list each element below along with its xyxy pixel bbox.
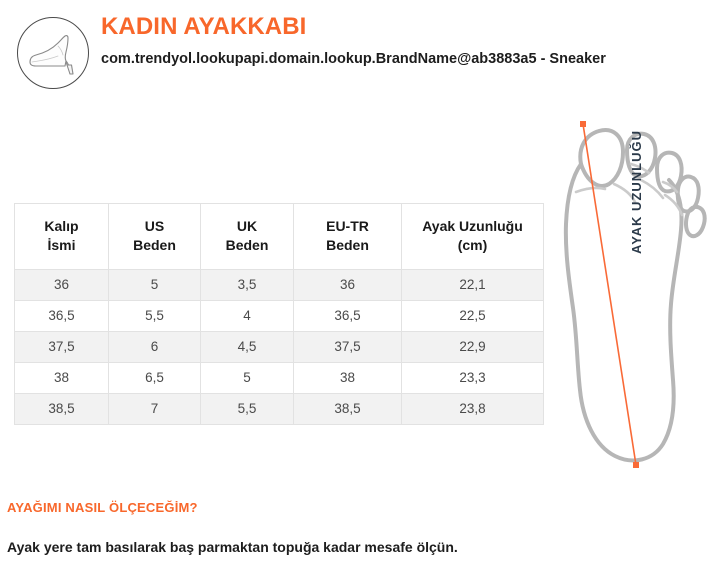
- column-header-line-1: Ayak Uzunluğu: [422, 218, 523, 234]
- cell-kalip-ismi: 36,5: [15, 301, 109, 332]
- column-header-line-1: UK: [237, 218, 257, 234]
- column-header-kalip-ismi: Kalıp İsmi: [15, 204, 109, 270]
- column-header-line-2: Beden: [326, 237, 369, 253]
- header-text-block: KADIN AYAKKABI com.trendyol.lookupapi.do…: [101, 12, 701, 70]
- cell-ayak-uzunlugu: 23,8: [402, 394, 544, 425]
- cell-ayak-uzunlugu: 22,5: [402, 301, 544, 332]
- cell-ayak-uzunlugu: 22,9: [402, 332, 544, 363]
- cell-eu-tr-beden: 36,5: [294, 301, 402, 332]
- cell-uk-beden: 5: [201, 363, 294, 394]
- column-header-uk-beden: UK Beden: [201, 204, 294, 270]
- how-to-measure-text: Ayak yere tam basılarak baş parmaktan to…: [7, 539, 458, 555]
- foot-sole-diagram: [545, 112, 709, 477]
- column-header-line-1: Kalıp: [44, 218, 78, 234]
- column-header-line-2: İsmi: [47, 237, 75, 253]
- table-row: 36,5 5,5 4 36,5 22,5: [15, 301, 544, 332]
- cell-uk-beden: 4,5: [201, 332, 294, 363]
- column-header-eu-tr-beden: EU-TR Beden: [294, 204, 402, 270]
- cell-ayak-uzunlugu: 23,3: [402, 363, 544, 394]
- column-header-line-2: (cm): [458, 237, 488, 253]
- size-table-container: Kalıp İsmi US Beden UK Beden EU-TR Beden…: [14, 203, 543, 425]
- column-header-us-beden: US Beden: [109, 204, 201, 270]
- cell-kalip-ismi: 36: [15, 270, 109, 301]
- cell-us-beden: 6: [109, 332, 201, 363]
- cell-kalip-ismi: 38: [15, 363, 109, 394]
- size-table: Kalıp İsmi US Beden UK Beden EU-TR Beden…: [14, 203, 544, 425]
- cell-kalip-ismi: 37,5: [15, 332, 109, 363]
- cell-us-beden: 5,5: [109, 301, 201, 332]
- cell-ayak-uzunlugu: 22,1: [402, 270, 544, 301]
- cell-us-beden: 5: [109, 270, 201, 301]
- how-to-measure-heading: AYAĞIMI NASIL ÖLÇECEĞİM?: [7, 500, 198, 515]
- cell-uk-beden: 3,5: [201, 270, 294, 301]
- cell-eu-tr-beden: 38,5: [294, 394, 402, 425]
- high-heel-shoe-icon: [17, 17, 89, 89]
- cell-us-beden: 7: [109, 394, 201, 425]
- column-header-line-2: Beden: [226, 237, 269, 253]
- table-row: 38,5 7 5,5 38,5 23,8: [15, 394, 544, 425]
- column-header-line-1: US: [145, 218, 164, 234]
- table-row: 36 5 3,5 36 22,1: [15, 270, 544, 301]
- page-subtitle: com.trendyol.lookupapi.domain.lookup.Bra…: [101, 48, 646, 70]
- column-header-ayak-uzunlugu: Ayak Uzunluğu (cm): [402, 204, 544, 270]
- cell-eu-tr-beden: 36: [294, 270, 402, 301]
- cell-kalip-ismi: 38,5: [15, 394, 109, 425]
- page-title: KADIN AYAKKABI: [101, 12, 701, 42]
- table-row: 37,5 6 4,5 37,5 22,9: [15, 332, 544, 363]
- cell-eu-tr-beden: 38: [294, 363, 402, 394]
- table-header-row: Kalıp İsmi US Beden UK Beden EU-TR Beden…: [15, 204, 544, 270]
- table-row: 38 6,5 5 38 23,3: [15, 363, 544, 394]
- column-header-line-1: EU-TR: [326, 218, 369, 234]
- column-header-line-2: Beden: [133, 237, 176, 253]
- cell-uk-beden: 5,5: [201, 394, 294, 425]
- cell-us-beden: 6,5: [109, 363, 201, 394]
- foot-length-label: AYAK UZUNLUĞU: [629, 104, 644, 254]
- cell-uk-beden: 4: [201, 301, 294, 332]
- cell-eu-tr-beden: 37,5: [294, 332, 402, 363]
- page-header: KADIN AYAKKABI com.trendyol.lookupapi.do…: [0, 0, 709, 110]
